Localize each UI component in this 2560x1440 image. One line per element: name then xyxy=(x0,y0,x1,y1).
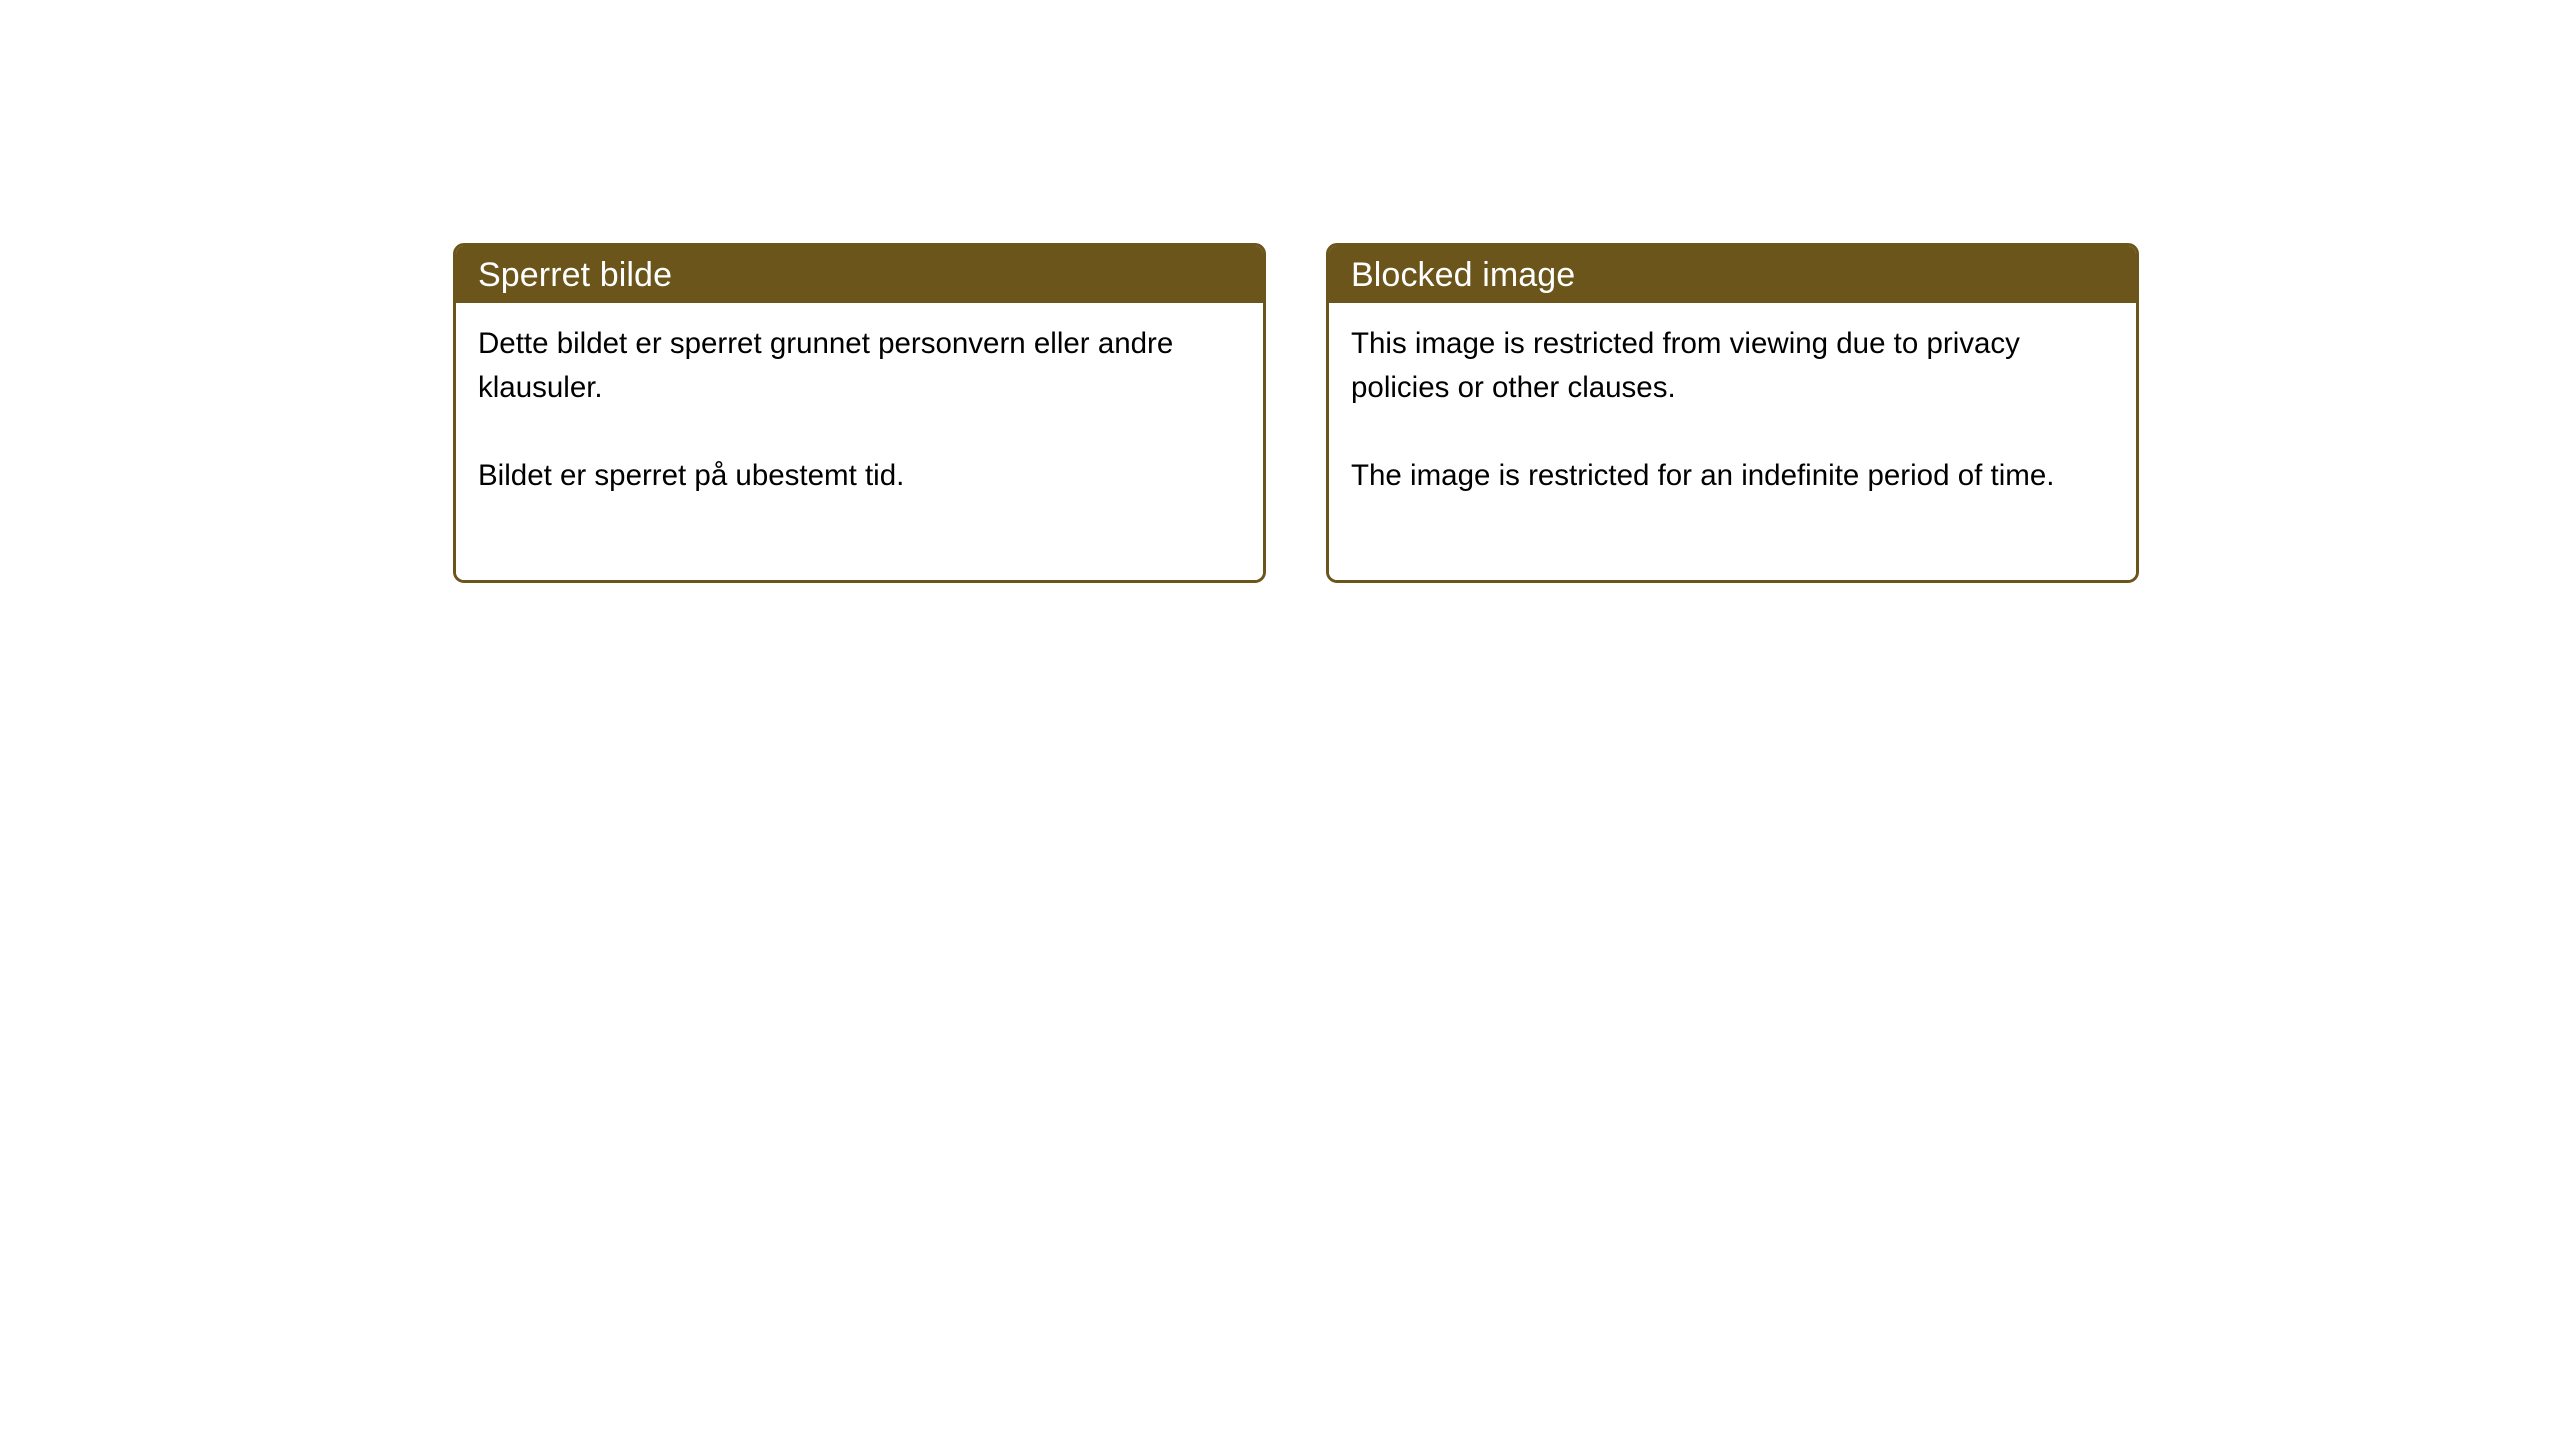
card-body-en: This image is restricted from viewing du… xyxy=(1329,303,2136,580)
card-header-no: Sperret bilde xyxy=(456,246,1263,303)
card-body-no: Dette bildet er sperret grunnet personve… xyxy=(456,303,1263,580)
notice-card-row: Sperret bilde Dette bildet er sperret gr… xyxy=(453,243,2139,583)
card-title-no: Sperret bilde xyxy=(478,258,672,292)
page-root: Sperret bilde Dette bildet er sperret gr… xyxy=(0,0,2560,1440)
card-paragraph-en-2: The image is restricted for an indefinit… xyxy=(1351,454,2111,498)
card-paragraph-en-1: This image is restricted from viewing du… xyxy=(1351,322,2111,410)
blocked-image-notice-card-en: Blocked image This image is restricted f… xyxy=(1326,243,2139,583)
card-header-en: Blocked image xyxy=(1329,246,2136,303)
card-paragraph-no-1: Dette bildet er sperret grunnet personve… xyxy=(478,322,1238,410)
card-title-en: Blocked image xyxy=(1351,258,1575,292)
card-paragraph-no-2: Bildet er sperret på ubestemt tid. xyxy=(478,454,1238,498)
blocked-image-notice-card-no: Sperret bilde Dette bildet er sperret gr… xyxy=(453,243,1266,583)
